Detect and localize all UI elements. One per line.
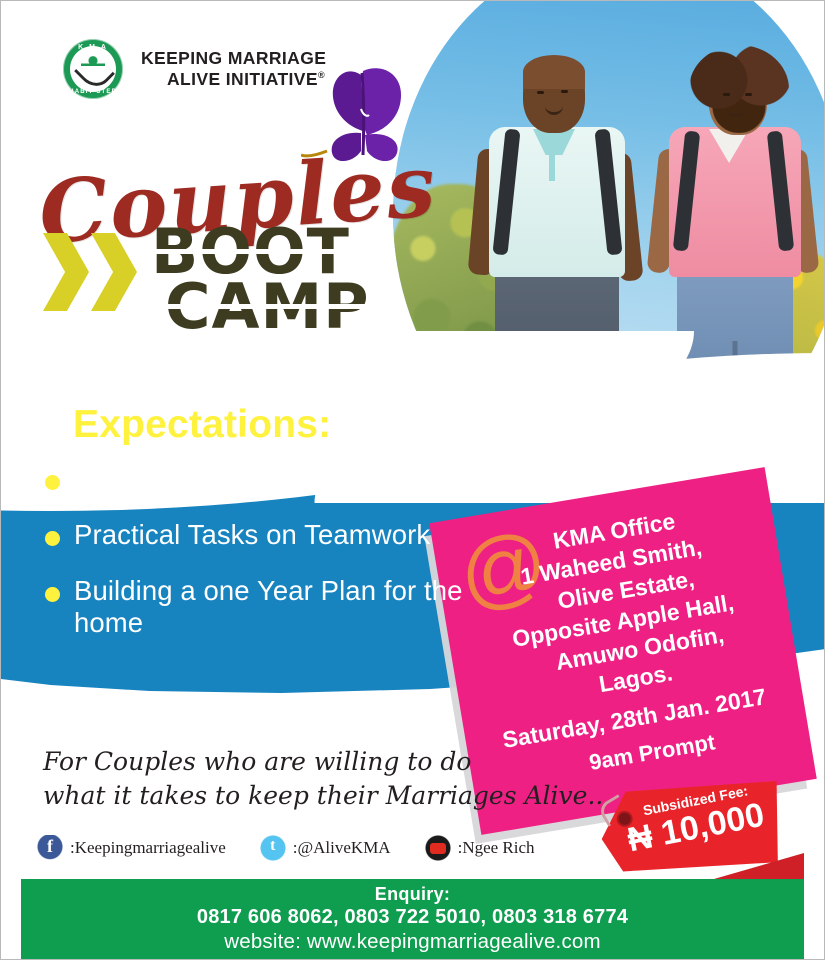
man-head-top [523, 55, 585, 89]
tagline-line-2: what it takes to keep their Marriages Al… [43, 779, 611, 813]
brand-line-2: ALIVE INITIATIVE® [141, 69, 326, 90]
expectations-list: Vision Building Retreat Practical Tasks … [45, 463, 475, 663]
social-links: :Keepingmarriagealive :@AliveKMA :Ngee R… [37, 835, 535, 861]
chevron-icon-1 [43, 233, 89, 311]
expectations-title: Expectations: [73, 403, 331, 447]
woman-hair [689, 45, 789, 133]
enquiry-label: Enquiry: [375, 884, 450, 905]
woman-eye-right [745, 93, 752, 96]
phone-numbers: 0817 606 8062, 0803 722 5010, 0803 318 6… [197, 906, 628, 929]
price-tag: Subsidized Fee: ₦ 10,000 [597, 776, 785, 880]
brand-line-1: KEEPING MARRIAGE [141, 48, 326, 69]
kma-logo-icon: K.M.A HABIT STEP [63, 39, 123, 99]
flyer-poster: K.M.A HABIT STEP KEEPING MARRIAGE ALIVE … [0, 0, 825, 960]
headline-stencil: BOOT CAMP [151, 225, 370, 334]
logo-bottom-text: HABIT STEP [63, 89, 123, 95]
facebook-handle: :Keepingmarriagealive [70, 838, 226, 858]
list-item: Building a one Year Plan for the home [45, 575, 475, 639]
bullet-dot-icon [45, 587, 60, 602]
website-url[interactable]: website: www.keepingmarriagealive.com [224, 930, 601, 954]
youtube-icon[interactable] [425, 835, 451, 861]
headline-camp: CAMP [165, 280, 370, 335]
facebook-icon[interactable] [37, 835, 63, 861]
twitter-handle: :@AliveKMA [293, 838, 391, 858]
expectation-text: Practical Tasks on Teamwork [74, 519, 430, 551]
man-placket [549, 135, 555, 181]
twitter-icon[interactable] [260, 835, 286, 861]
bullet-dot-icon [45, 531, 60, 546]
woman-eye-left [723, 93, 730, 96]
social-twitter[interactable]: :@AliveKMA [260, 835, 391, 861]
youtube-handle: :Ngee Rich [458, 838, 535, 858]
expectation-text: Vision Building Retreat [74, 463, 354, 495]
chevron-icon-2 [91, 233, 137, 311]
bullet-dot-icon [45, 475, 60, 490]
chevron-accent [43, 233, 137, 311]
man-eye-left [537, 91, 544, 94]
tagline-line-1: For Couples who are willing to do [43, 745, 611, 779]
social-youtube[interactable]: :Ngee Rich [425, 835, 535, 861]
man-eye-right [561, 90, 568, 93]
contact-footer: Enquiry: 0817 606 8062, 0803 722 5010, 0… [21, 879, 804, 959]
brand-line-2-text: ALIVE INITIATIVE [167, 69, 318, 89]
list-item: Vision Building Retreat [45, 463, 475, 495]
brand-header: K.M.A HABIT STEP KEEPING MARRIAGE ALIVE … [63, 39, 326, 99]
brand-name: KEEPING MARRIAGE ALIVE INITIATIVE® [141, 48, 326, 91]
social-facebook[interactable]: :Keepingmarriagealive [37, 835, 226, 861]
list-item: Practical Tasks on Teamwork [45, 519, 475, 551]
expectation-text: Building a one Year Plan for the home [74, 575, 475, 639]
tagline: For Couples who are willing to do what i… [43, 745, 611, 813]
